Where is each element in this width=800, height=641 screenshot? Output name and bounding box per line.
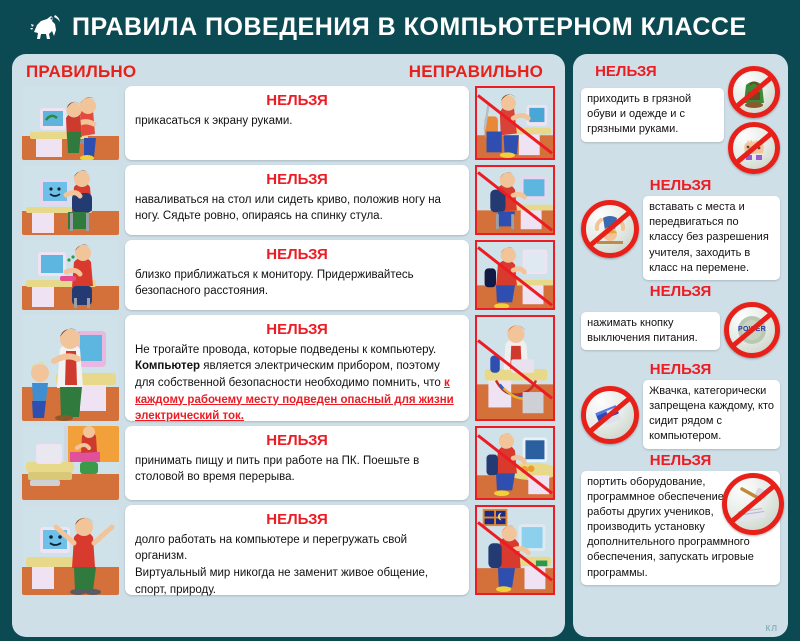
right-rule-heading: НЕЛЬЗЯ	[581, 177, 780, 194]
rule-heading: НЕЛЬЗЯ	[135, 247, 459, 264]
column-headings: ПРАВИЛЬНО НЕПРАВИЛЬНО	[22, 62, 555, 86]
rule-card: НЕЛЬЗЯ наваливаться на стол или сидеть к…	[125, 165, 469, 235]
pupil-at-safe-distance-icon	[22, 240, 119, 310]
right-rule-text: нажимать кнопку выключения питания.	[581, 312, 720, 350]
pupil-pulling-cables-crossed-icon	[475, 315, 555, 421]
rule-row: НЕЛЬЗЯ наваливаться на стол или сидеть к…	[22, 165, 555, 235]
right-rule-row: приходить в грязной обуви и одежде и с г…	[581, 66, 780, 174]
right-rule-heading: НЕЛЬЗЯ	[581, 283, 780, 300]
rule-text-part1: Не трогайте провода, которые подведены к…	[135, 344, 436, 356]
chewing-gum-banned-icon	[581, 386, 639, 444]
rule-heading: НЕЛЬЗЯ	[135, 512, 459, 529]
rules-list: НЕЛЬЗЯ прикасаться к экрану руками.	[22, 86, 555, 595]
rule-text: Не трогайте провода, которые подведены к…	[135, 342, 459, 425]
right-rule-heading: НЕЛЬЗЯ	[581, 452, 780, 469]
pupil-sitting-straight-icon	[22, 165, 119, 235]
rule-card: НЕЛЬЗЯ долго работать на компьютере и пе…	[125, 505, 469, 595]
pupil-touching-screen-crossed-icon	[475, 86, 555, 160]
rule-card: НЕЛЬЗЯ близко приближаться к монитору. П…	[125, 240, 469, 310]
right-rule-block: НЕЛЬЗЯ вставать с места и пер	[581, 177, 780, 280]
rule-text: долго работать на компьютере и перегружа…	[135, 532, 459, 599]
poster-header: ПРАВИЛА ПОВЕДЕНИЯ В КОМПЬЮТЕРНОМ КЛАССЕ	[12, 6, 788, 48]
rule-heading: НЕЛЬЗЯ	[135, 172, 459, 189]
rule-text-bold: Компьютер	[135, 360, 200, 372]
right-rule-heading: НЕЛЬЗЯ	[581, 361, 780, 378]
rule-row: НЕЛЬЗЯ долго работать на компьютере и пе…	[22, 505, 555, 595]
hammer-smashing-keyboard-banned-icon	[722, 473, 784, 535]
right-rule-block: НЕЛЬЗЯ приходить в грязной обуви и одежд…	[581, 63, 780, 174]
left-panel: ПРАВИЛЬНО НЕПРАВИЛЬНО	[12, 54, 565, 637]
rule-text: принимать пищу и пить при работе на ПК. …	[135, 453, 459, 486]
watermark: КЛ	[766, 624, 779, 633]
dirty-hands-banned-icon	[728, 122, 780, 174]
dirty-backpack-banned-icon	[728, 66, 780, 118]
poster-body: ПРАВИЛЬНО НЕПРАВИЛЬНО	[6, 54, 794, 637]
right-rule-block: НЕЛЬЗЯ Жвачка, категор	[581, 361, 780, 449]
correct-column-heading: ПРАВИЛЬНО	[26, 62, 136, 82]
rule-heading: НЕЛЬЗЯ	[135, 93, 459, 110]
pupil-tired-at-night-crossed-icon	[475, 505, 555, 595]
rule-row: НЕЛЬЗЯ Не трогайте провода, которые подв…	[22, 315, 555, 421]
eating-in-canteen-icon	[22, 426, 119, 500]
right-panel: НЕЛЬЗЯ приходить в грязной обуви и одежд…	[573, 54, 788, 637]
rule-row: НЕЛЬЗЯ прикасаться к экрану руками.	[22, 86, 555, 160]
teacher-helping-with-cables-icon	[22, 315, 119, 421]
right-rule-text: вставать с места и передвигаться по клас…	[643, 196, 780, 280]
rule-heading: НЕЛЬЗЯ	[135, 433, 459, 450]
right-rule-row: Жвачка, категорически запрещена каждому,…	[581, 380, 780, 449]
incorrect-column-heading: НЕПРАВИЛЬНО	[409, 62, 543, 82]
pupil-stretching-break-icon	[22, 505, 119, 595]
right-rule-block: НЕЛЬЗЯ портить оборудование, программное…	[581, 452, 780, 585]
pupil-tumbling-banned-icon	[581, 200, 639, 258]
rule-row: НЕЛЬЗЯ близко приближаться к монитору. П…	[22, 240, 555, 310]
right-rule-row: нажимать кнопку выключения питания. POWE…	[581, 302, 780, 358]
rule-heading: НЕЛЬЗЯ	[135, 322, 459, 339]
rule-text: наваливаться на стол или сидеть криво, п…	[135, 192, 459, 225]
right-rule-block: НЕЛЬЗЯ нажимать кнопку выключения питани…	[581, 283, 780, 358]
pupil-eating-at-computer-crossed-icon	[475, 426, 555, 500]
rule-text: близко приближаться к монитору. Придержи…	[135, 267, 459, 300]
power-button-banned-icon: POWER	[724, 302, 780, 358]
page-title: ПРАВИЛА ПОВЕДЕНИЯ В КОМПЬЮТЕРНОМ КЛАССЕ	[72, 13, 797, 42]
heraldic-horse-icon	[28, 10, 62, 44]
right-rule-row: вставать с места и передвигаться по клас…	[581, 196, 780, 280]
poster-root: ПРАВИЛА ПОВЕДЕНИЯ В КОМПЬЮТЕРНОМ КЛАССЕ …	[0, 0, 800, 641]
rule-text: прикасаться к экрану руками.	[135, 113, 459, 130]
rule-card: НЕЛЬЗЯ прикасаться к экрану руками.	[125, 86, 469, 160]
right-rule-text: Жвачка, категорически запрещена каждому,…	[643, 380, 780, 449]
pupil-too-close-to-monitor-crossed-icon	[475, 240, 555, 310]
pupil-slouching-crossed-icon	[475, 165, 555, 235]
rule-card: НЕЛЬЗЯ принимать пищу и пить при работе …	[125, 426, 469, 500]
right-rule-icons	[728, 66, 780, 174]
right-rule-text: приходить в грязной обуви и одежде и с г…	[581, 88, 724, 142]
two-pupils-at-computer-icon	[22, 86, 119, 160]
rule-card: НЕЛЬЗЯ Не трогайте провода, которые подв…	[125, 315, 469, 421]
rule-row: НЕЛЬЗЯ принимать пищу и пить при работе …	[22, 426, 555, 500]
